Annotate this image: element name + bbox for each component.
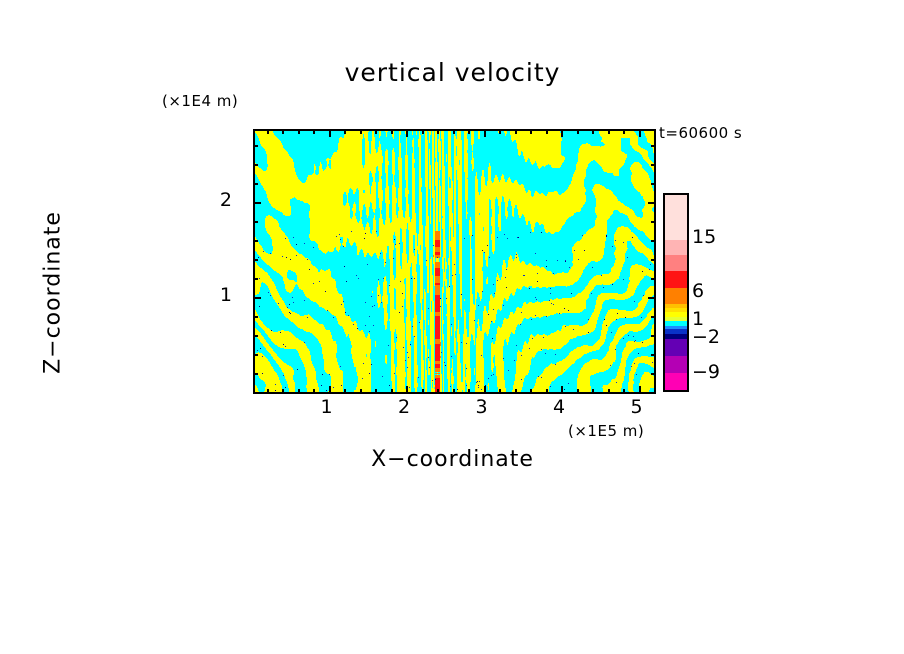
y-minor-tick-right (651, 164, 656, 166)
x-minor-tick-top (623, 129, 625, 134)
y-major-tick (253, 202, 261, 204)
page-title: vertical velocity (253, 58, 652, 87)
x-major-tick (561, 386, 563, 394)
y-minor-tick-right (651, 316, 656, 318)
y-minor-tick-right (651, 145, 656, 147)
x-minor-tick (546, 389, 548, 394)
colorbar-band (665, 271, 687, 288)
x-major-tick-top (406, 129, 408, 137)
x-tick-label: 3 (476, 396, 488, 418)
x-minor-tick (592, 389, 594, 394)
y-major-tick-right (648, 202, 656, 204)
y-minor-tick (253, 316, 258, 318)
x-minor-tick-top (546, 129, 548, 134)
x-major-tick (406, 386, 408, 394)
x-minor-tick (608, 389, 610, 394)
y-major-tick-right (648, 297, 656, 299)
x-tick-label: 4 (553, 396, 565, 418)
velocity-field-heatmap (255, 131, 654, 392)
x-minor-tick (437, 389, 439, 394)
time-stamp-label: t=60600 s (659, 124, 742, 142)
x-major-tick-top (484, 129, 486, 137)
y-minor-tick (253, 259, 258, 261)
y-minor-tick (253, 164, 258, 166)
x-minor-tick (360, 389, 362, 394)
colorbar-tick-label: −2 (692, 326, 720, 348)
colorbar-band (665, 339, 687, 356)
x-minor-tick-top (468, 129, 470, 134)
y-tick-label: 1 (220, 284, 232, 306)
x-minor-tick-top (437, 129, 439, 134)
colorbar-band (665, 255, 687, 271)
x-minor-tick (422, 389, 424, 394)
x-major-tick (329, 386, 331, 394)
x-minor-tick-top (313, 129, 315, 134)
x-major-tick-top (561, 129, 563, 137)
x-tick-label: 2 (398, 396, 410, 418)
x-minor-tick (313, 389, 315, 394)
y-minor-tick-right (651, 183, 656, 185)
y-minor-tick (253, 278, 258, 280)
contour-plot-area (253, 129, 656, 394)
x-minor-tick (344, 389, 346, 394)
x-minor-tick-top (282, 129, 284, 134)
y-minor-tick (253, 373, 258, 375)
colorbar (663, 193, 689, 392)
x-minor-tick-top (530, 129, 532, 134)
y-tick-label: 2 (220, 189, 232, 211)
x-minor-tick-top (577, 129, 579, 134)
x-minor-tick-top (453, 129, 455, 134)
x-minor-tick (515, 389, 517, 394)
y-minor-tick-right (651, 278, 656, 280)
x-minor-tick (453, 389, 455, 394)
x-major-tick (639, 386, 641, 394)
y-minor-tick-right (651, 354, 656, 356)
x-major-tick-top (639, 129, 641, 137)
x-minor-tick (282, 389, 284, 394)
x-minor-tick (577, 389, 579, 394)
colorbar-band (665, 373, 687, 390)
y-axis-title: Z−coordinate (41, 178, 66, 408)
x-minor-tick-top (499, 129, 501, 134)
y-minor-tick-right (651, 373, 656, 375)
y-minor-tick (253, 145, 258, 147)
x-minor-tick (623, 389, 625, 394)
x-minor-tick (499, 389, 501, 394)
x-minor-tick (468, 389, 470, 394)
y-minor-tick-right (651, 240, 656, 242)
y-minor-tick (253, 240, 258, 242)
x-minor-tick-top (592, 129, 594, 134)
colorbar-band (665, 240, 687, 256)
colorbar-band (665, 288, 687, 305)
colorbar-tick-label: 15 (692, 226, 716, 248)
y-minor-tick-right (651, 221, 656, 223)
colorbar-band (665, 356, 687, 374)
y-units-label: (×1E4 m) (162, 92, 238, 110)
colorbar-band (665, 195, 687, 240)
y-minor-tick-right (651, 335, 656, 337)
x-minor-tick-top (267, 129, 269, 134)
x-minor-tick-top (515, 129, 517, 134)
x-minor-tick-top (422, 129, 424, 134)
x-minor-tick-top (298, 129, 300, 134)
colorbar-tick-label: 6 (692, 280, 704, 302)
y-minor-tick (253, 335, 258, 337)
x-minor-tick (375, 389, 377, 394)
x-minor-tick-top (360, 129, 362, 134)
x-tick-label: 5 (630, 396, 642, 418)
x-minor-tick-top (375, 129, 377, 134)
x-axis-title: X−coordinate (253, 447, 652, 472)
x-minor-tick-top (391, 129, 393, 134)
x-minor-tick (391, 389, 393, 394)
colorbar-tick-label: −9 (692, 361, 720, 383)
x-minor-tick (298, 389, 300, 394)
y-minor-tick (253, 221, 258, 223)
x-minor-tick-top (608, 129, 610, 134)
x-minor-tick (267, 389, 269, 394)
x-minor-tick-top (344, 129, 346, 134)
y-minor-tick (253, 354, 258, 356)
y-major-tick (253, 297, 261, 299)
y-minor-tick (253, 183, 258, 185)
x-tick-label: 1 (321, 396, 333, 418)
y-minor-tick-right (651, 259, 656, 261)
x-units-label: (×1E5 m) (568, 422, 644, 440)
x-minor-tick (530, 389, 532, 394)
x-major-tick (484, 386, 486, 394)
x-major-tick-top (329, 129, 331, 137)
